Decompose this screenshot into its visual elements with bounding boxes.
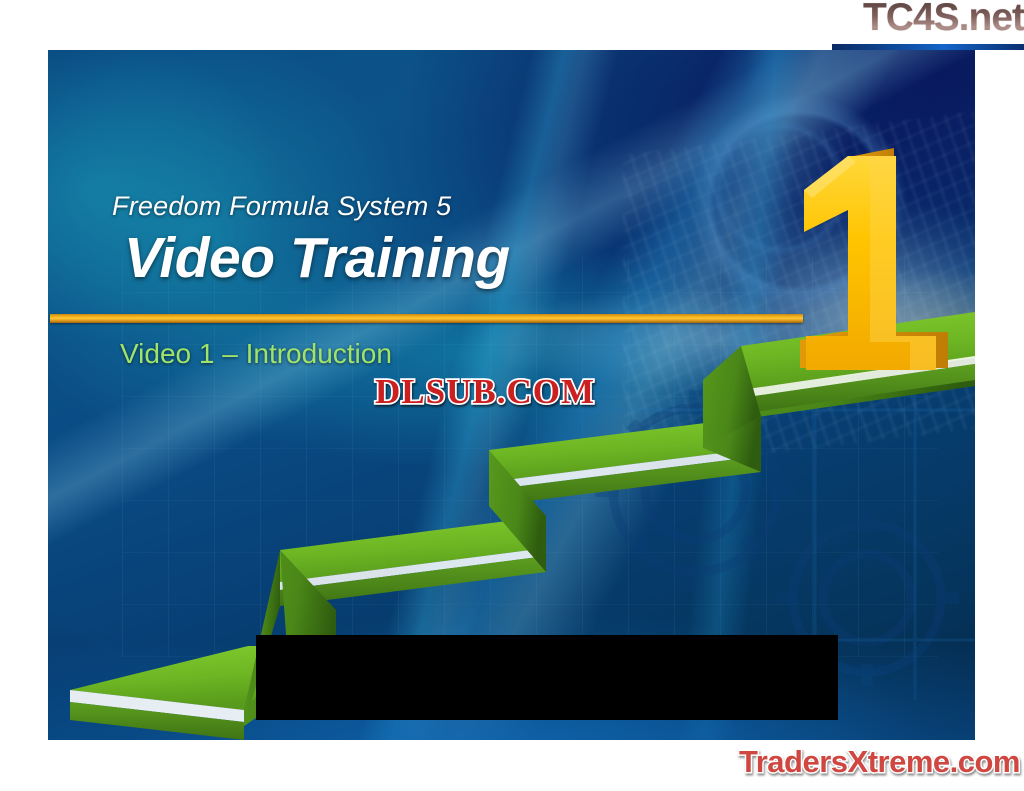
title-block: Freedom Formula System 5 Video Training: [112, 190, 510, 291]
slide-title: Video Training: [124, 225, 510, 291]
step-3-upper: [489, 346, 761, 506]
bottom-brand-watermark: TradersXtreme.com: [700, 745, 1024, 791]
redaction-bar: [256, 635, 838, 720]
bottom-brand-text: TradersXtreme.com: [739, 743, 1020, 781]
slide-eyebrow-text: Freedom Formula System 5: [112, 190, 510, 222]
top-brand-text: TC4S.net: [824, 0, 1024, 40]
top-brand-underline: [832, 44, 1024, 50]
step-2-middle: [280, 450, 546, 606]
step-number-1: [800, 148, 948, 370]
overlay-watermark: DLSUB.COM: [375, 372, 595, 412]
top-brand-watermark: TC4S.net: [824, 0, 1024, 50]
title-divider-rule: [50, 314, 803, 323]
slide-subtitle: Video 1 – Introduction: [120, 337, 392, 371]
presentation-slide: Freedom Formula System 5 Video Training …: [48, 50, 975, 740]
